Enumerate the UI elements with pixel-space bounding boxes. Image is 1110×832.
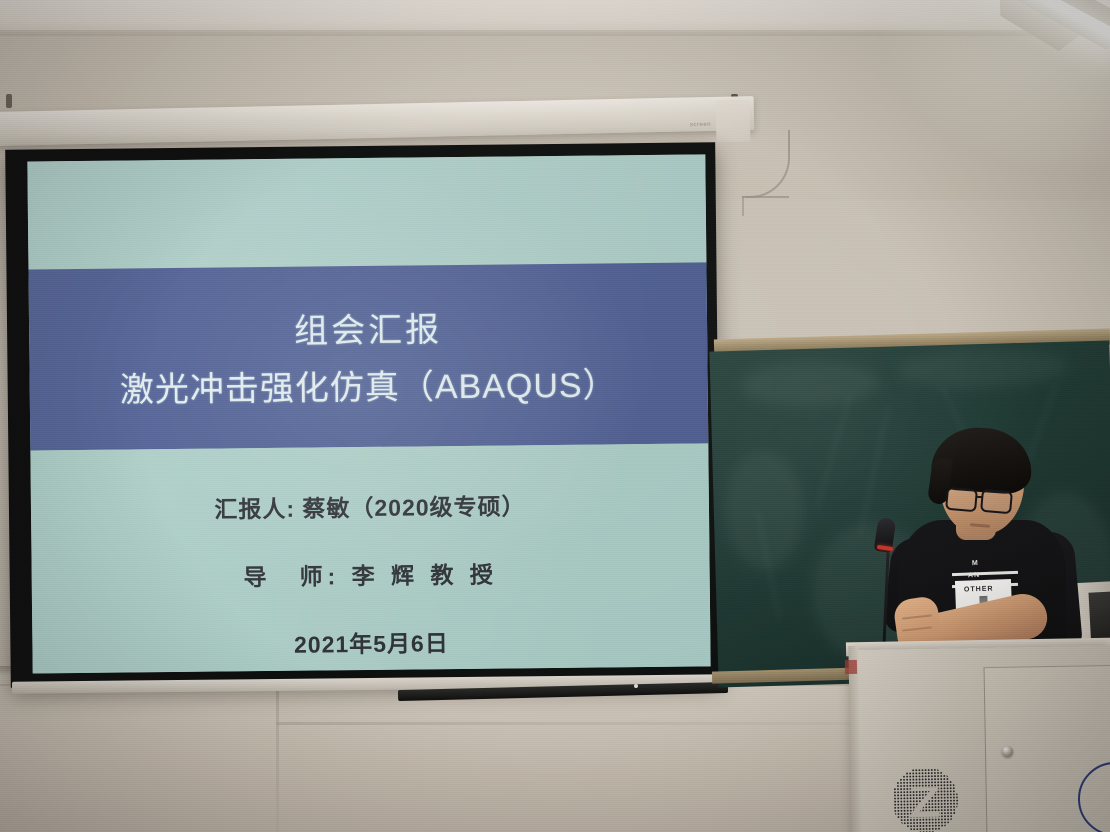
slide-title-band: 组会汇报 激光冲击强化仿真（ABAQUS）	[28, 262, 708, 451]
presentation-slide: 组会汇报 激光冲击强化仿真（ABAQUS） 汇报人: 蔡敏（2020级专硕） 导…	[27, 154, 710, 673]
glasses-lens-left	[945, 487, 978, 513]
classroom-scene: screen 组会汇报 激光冲击强化仿真（ABAQUS） 汇报人: 蔡敏（202…	[0, 0, 1110, 832]
hanging-cable-segment	[745, 196, 789, 198]
shirt-text-line-1: M	[972, 560, 979, 567]
roller-brand-label: screen	[690, 122, 711, 128]
podium-red-label	[845, 660, 857, 674]
slide-info-band: 汇报人: 蔡敏（2020级专硕） 导 师: 李 辉 教 授 2021年5月6日	[30, 444, 710, 674]
screen-surface: 组会汇报 激光冲击强化仿真（ABAQUS） 汇报人: 蔡敏（2020级专硕） 导…	[27, 154, 710, 673]
wall-seam-horizontal	[276, 722, 860, 725]
slide-title-line-2: 激光冲击强化仿真（ABAQUS）	[120, 358, 618, 412]
shirt-text-line-3: OTHER	[964, 585, 994, 593]
slide-top-band	[27, 154, 706, 269]
slide-title-line-1: 组会汇报	[294, 303, 443, 354]
slide-date-line: 2021年5月6日	[294, 624, 449, 660]
roller-bracket-left	[6, 94, 12, 108]
wall-seam-vertical	[276, 690, 279, 832]
glasses-lens-right	[980, 489, 1013, 515]
podium-speaker-grille-icon	[888, 763, 961, 832]
slide-presenter-line: 汇报人: 蔡敏（2020级专硕）	[214, 488, 526, 525]
screen-weight-bar-dot	[634, 684, 638, 688]
hanging-cable-drop	[742, 196, 744, 216]
projection-screen: 组会汇报 激光冲击强化仿真（ABAQUS） 汇报人: 蔡敏（2020级专硕） 导…	[5, 142, 721, 687]
shirt-text-line-2: AN	[968, 572, 980, 579]
slide-advisor-line: 导 师: 李 辉 教 授	[243, 556, 498, 593]
